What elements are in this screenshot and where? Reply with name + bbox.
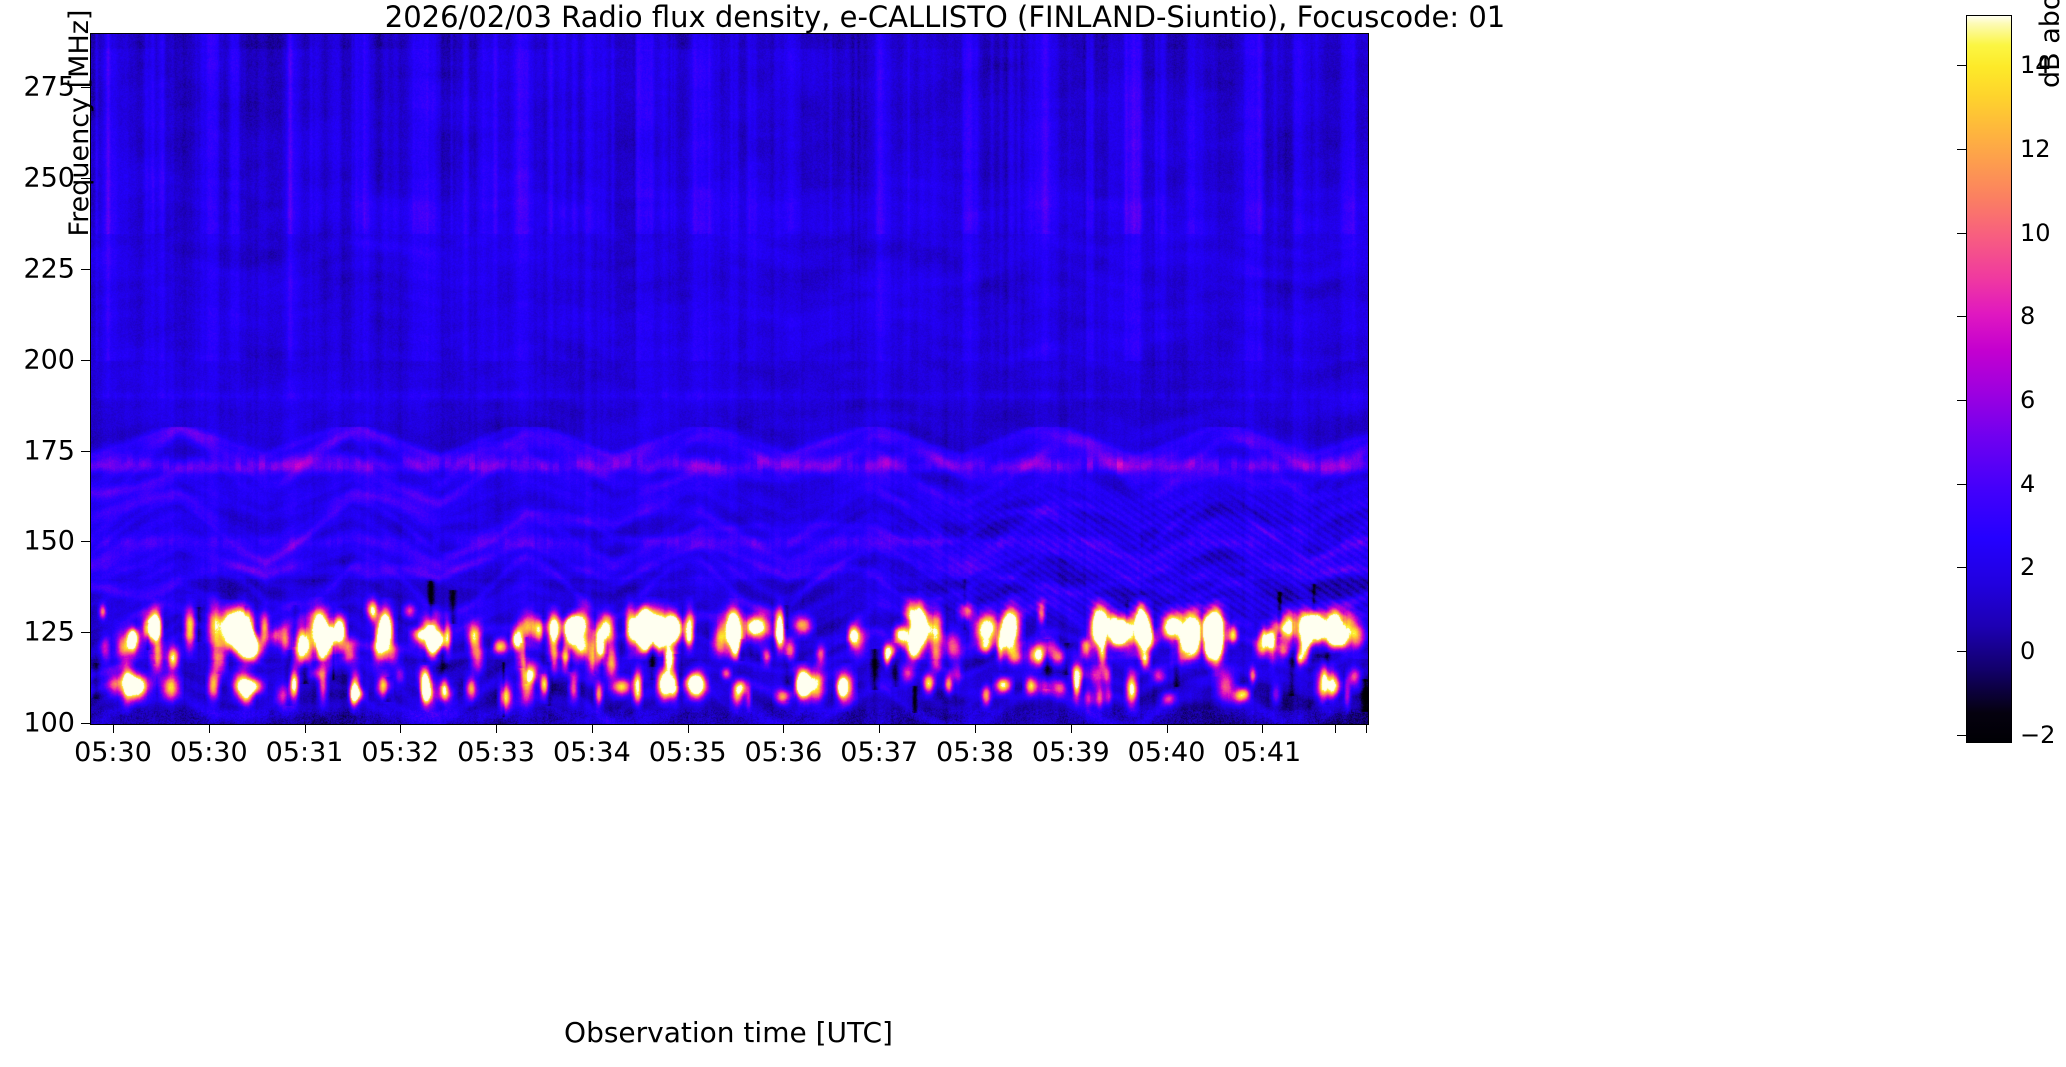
y-tick-mark <box>81 178 90 179</box>
x-tick-label: 05:32 <box>361 737 439 768</box>
x-tick-mark <box>592 724 593 733</box>
x-tick-mark <box>1071 724 1072 733</box>
colorbar-tick-mark <box>1957 484 1966 485</box>
x-tick-label: 05:36 <box>745 737 823 768</box>
colorbar-tick-label: 0 <box>2020 637 2035 665</box>
x-tick-label: 05:40 <box>1128 737 1206 768</box>
colorbar: 14121086420−2 <box>1966 15 2012 743</box>
x-tick-label: 05:35 <box>649 737 727 768</box>
colorbar-tick-label: 4 <box>2020 470 2035 498</box>
colorbar-tick-label: 6 <box>2020 386 2035 414</box>
x-tick-mark <box>688 724 689 733</box>
colorbar-tick-mark <box>1957 149 1966 150</box>
colorbar-tick-mark <box>1957 651 1966 652</box>
x-tick-label: 05:30 <box>170 737 248 768</box>
x-tick-mark <box>783 724 784 733</box>
colorbar-tick-mark <box>1957 65 1966 66</box>
y-tick-label: 200 <box>15 344 75 375</box>
y-tick-label: 225 <box>15 254 75 285</box>
y-tick-mark <box>81 541 90 542</box>
colorbar-gradient <box>1966 15 2012 743</box>
colorbar-tick-label: −2 <box>2020 721 2055 749</box>
y-tick-mark <box>81 360 90 361</box>
colorbar-label: dB above background <box>2036 0 2066 88</box>
y-tick-mark <box>81 87 90 88</box>
y-axis-label: Frequency [MHz] <box>60 0 100 268</box>
x-tick-mark <box>113 724 114 733</box>
page-title: 2026/02/03 Radio flux density, e-CALLIST… <box>90 1 1800 33</box>
colorbar-tick-mark <box>1957 400 1966 401</box>
y-tick-mark <box>81 723 90 724</box>
y-tick-label: 150 <box>15 526 75 557</box>
spectrogram-axes: Frequency [MHz] <box>90 33 1369 725</box>
x-tick-mark <box>305 724 306 733</box>
colorbar-tick-label: 8 <box>2020 302 2035 330</box>
colorbar-tick-mark <box>1957 233 1966 234</box>
x-tick-mark <box>1335 724 1336 733</box>
x-tick-label: 05:33 <box>457 737 535 768</box>
x-tick-label: 05:41 <box>1223 737 1301 768</box>
x-tick-mark <box>1167 724 1168 733</box>
x-tick-mark <box>975 724 976 733</box>
colorbar-tick-label: 2 <box>2020 553 2035 581</box>
colorbar-tick-label: 12 <box>2020 135 2051 163</box>
y-tick-mark <box>81 451 90 452</box>
x-tick-mark <box>400 724 401 733</box>
x-tick-label: 05:37 <box>840 737 918 768</box>
spectrogram-canvas <box>91 34 1368 724</box>
x-tick-label: 05:31 <box>266 737 344 768</box>
x-tick-mark <box>496 724 497 733</box>
colorbar-tick-mark <box>1957 567 1966 568</box>
x-tick-label: 05:30 <box>74 737 152 768</box>
colorbar-tick-mark <box>1957 316 1966 317</box>
y-tick-mark <box>81 632 90 633</box>
x-tick-label: 05:38 <box>936 737 1014 768</box>
y-tick-label: 100 <box>15 708 75 739</box>
x-tick-mark <box>209 724 210 733</box>
y-tick-label: 125 <box>15 617 75 648</box>
y-tick-mark <box>81 269 90 270</box>
x-tick-mark <box>1262 724 1263 733</box>
spectrogram-figure: 2026/02/03 Radio flux density, e-CALLIST… <box>0 0 2066 1067</box>
y-tick-label: 250 <box>15 163 75 194</box>
y-tick-label: 175 <box>15 435 75 466</box>
colorbar-tick-label: 10 <box>2020 219 2051 247</box>
x-tick-label: 05:39 <box>1032 737 1110 768</box>
colorbar-tick-mark <box>1957 735 1966 736</box>
x-tick-mark <box>879 724 880 733</box>
x-axis-label: Observation time [UTC] <box>90 1016 1367 1049</box>
x-tick-label: 05:34 <box>553 737 631 768</box>
x-tick-mark <box>1366 724 1367 733</box>
y-tick-label: 275 <box>15 72 75 103</box>
